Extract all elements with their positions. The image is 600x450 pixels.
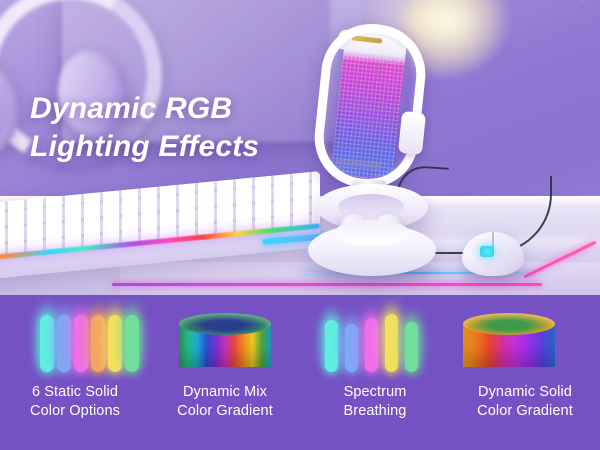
color-bar-group (300, 305, 450, 375)
caption-line-1: 6 Static Solid (0, 383, 150, 402)
cylinder-shape (463, 313, 555, 373)
keyboard-keycaps (0, 171, 320, 261)
color-bar-group (0, 305, 150, 375)
mic-base-top (334, 220, 410, 246)
six-color-bars-icon (0, 305, 150, 375)
cylinder-shape (179, 313, 271, 373)
caption-line-1: Spectrum (300, 383, 450, 402)
product-photo-scene: Dynamic RGB Lighting Effects (0, 0, 600, 300)
color-bar (365, 318, 378, 372)
solid-gradient-cylinder-icon (450, 305, 600, 375)
color-bar (125, 315, 139, 372)
color-bar (325, 320, 338, 372)
feature-dynamic-mix: Dynamic Mix Color Gradient (150, 295, 300, 450)
caption-line-2: Breathing (300, 402, 450, 421)
caption-line-2: Color Options (0, 402, 150, 421)
feature-caption: Spectrum Breathing (300, 383, 450, 421)
feature-caption: Dynamic Mix Color Gradient (150, 383, 300, 421)
cylinder-top (179, 313, 271, 335)
mic-yoke-frame (310, 19, 431, 193)
headline-line-2: Lighting Effects (30, 128, 259, 166)
marketing-banner: Dynamic RGB Lighting Effects 6 Static So… (0, 0, 600, 450)
feature-dynamic-solid: Dynamic Solid Color Gradient (450, 295, 600, 450)
rainbow-cylinder-icon (150, 305, 300, 375)
color-bar (345, 324, 358, 372)
microphone-product (300, 18, 450, 284)
feature-caption: Dynamic Solid Color Gradient (450, 383, 600, 421)
caption-line-1: Dynamic Mix (150, 383, 300, 402)
color-bar (405, 322, 418, 372)
features-panel: 6 Static Solid Color Options Dynamic Mix… (0, 295, 600, 450)
caption-line-2: Color Gradient (450, 402, 600, 421)
mouse-rgb-logo (480, 246, 494, 257)
feature-spectrum-breathing: Spectrum Breathing (300, 295, 450, 450)
mic-hinge (398, 111, 426, 155)
breathing-bars-icon (300, 305, 450, 375)
page-title: Dynamic RGB Lighting Effects (30, 90, 259, 166)
caption-line-2: Color Gradient (150, 402, 300, 421)
caption-line-1: Dynamic Solid (450, 383, 600, 402)
feature-caption: 6 Static Solid Color Options (0, 383, 150, 421)
feature-static-solid: 6 Static Solid Color Options (0, 295, 150, 450)
headline-line-1: Dynamic RGB (30, 90, 259, 128)
color-bar (385, 314, 398, 372)
cylinder-top (463, 313, 555, 335)
